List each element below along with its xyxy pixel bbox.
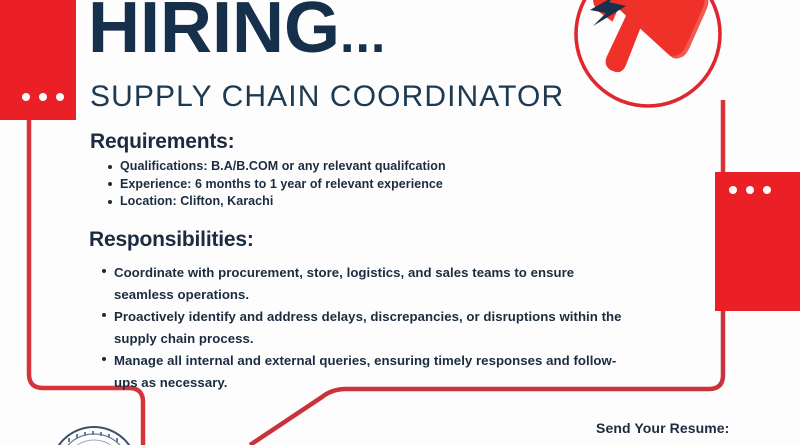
- decorative-dots-left: [22, 93, 64, 101]
- job-posting-poster: HIRING... SUPPLY CHAIN COORDINATOR Requi…: [0, 0, 800, 445]
- decorative-dots-right: [729, 186, 771, 194]
- megaphone-icon: [569, 0, 714, 96]
- job-title: SUPPLY CHAIN COORDINATOR: [90, 80, 564, 114]
- dot: [39, 93, 47, 101]
- company-logo-icon: [48, 424, 140, 445]
- dot: [56, 93, 64, 101]
- responsibilities-list: Coordinate with procurement, store, logi…: [97, 262, 624, 394]
- dot: [22, 93, 30, 101]
- dot: [763, 186, 771, 194]
- page-title: HIRING...: [88, 0, 386, 71]
- responsibilities-heading: Responsibilities:: [89, 228, 254, 252]
- requirements-list: Qualifications: B.A/B.COM or any relevan…: [103, 158, 446, 211]
- list-item: Coordinate with procurement, store, logi…: [114, 262, 624, 305]
- list-item: Location: Clifton, Karachi: [120, 193, 446, 211]
- list-item: Qualifications: B.A/B.COM or any relevan…: [120, 158, 446, 176]
- dot: [746, 186, 754, 194]
- list-item: Manage all internal and external queries…: [114, 350, 624, 393]
- red-accent-block-left: [0, 0, 76, 120]
- dot: [729, 186, 737, 194]
- headline-ellipsis: ...: [340, 6, 386, 64]
- list-item: Proactively identify and address delays,…: [114, 306, 624, 349]
- megaphone-badge: [560, 0, 730, 122]
- headline-word: HIRING: [88, 0, 340, 68]
- list-item: Experience: 6 months to 1 year of releva…: [120, 176, 446, 194]
- requirements-heading: Requirements:: [90, 130, 234, 154]
- send-resume-label: Send Your Resume:: [596, 420, 729, 436]
